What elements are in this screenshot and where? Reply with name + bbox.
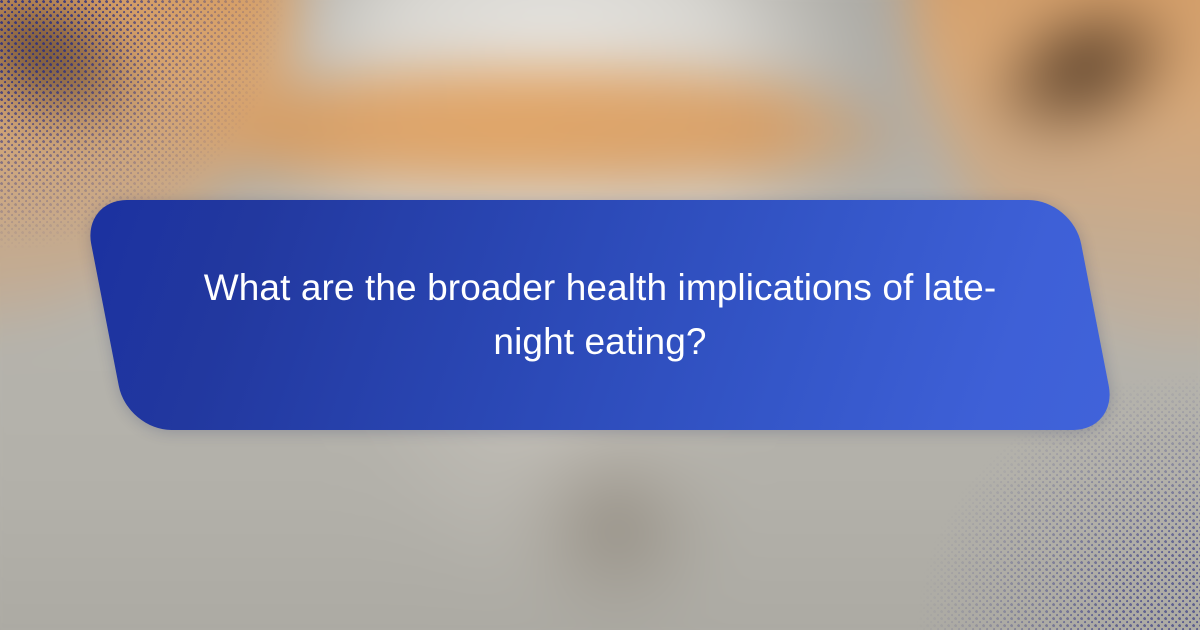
headline-banner: What are the broader health implications… [105, 200, 1095, 430]
headline-text: What are the broader health implications… [105, 261, 1095, 369]
share-card-canvas: What are the broader health implications… [0, 0, 1200, 630]
photo-lower-shadow [500, 410, 730, 630]
